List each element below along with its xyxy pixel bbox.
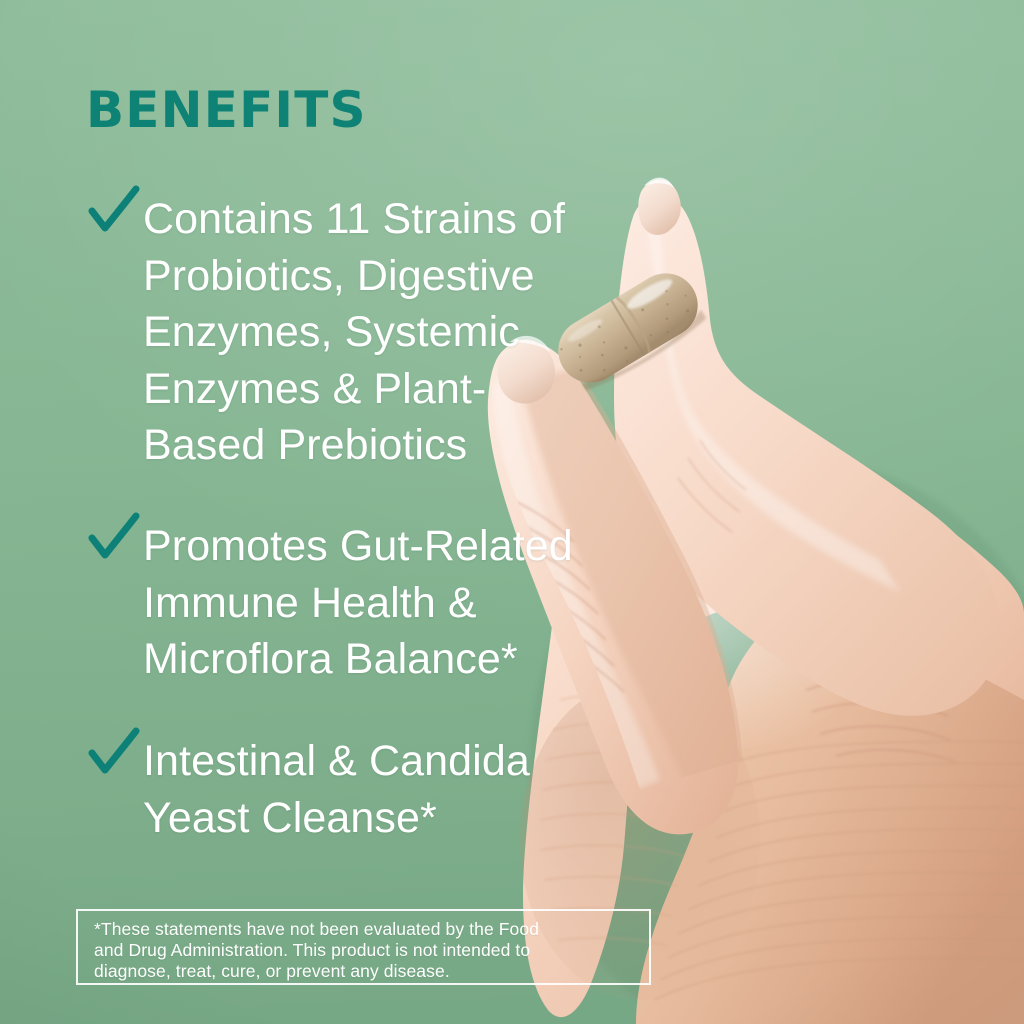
benefit-text: Intestinal & Candida Yeast Cleanse* [143, 733, 530, 846]
content-layer: BENEFITS Contains 11 Strains of Probioti… [0, 0, 1024, 1024]
promo-graphic: BENEFITS Contains 11 Strains of Probioti… [0, 0, 1024, 1024]
benefit-item: Promotes Gut-Related Immune Health & Mic… [86, 518, 573, 688]
benefit-item: Contains 11 Strains of Probiotics, Diges… [86, 191, 565, 474]
benefit-text: Promotes Gut-Related Immune Health & Mic… [143, 518, 573, 688]
benefit-text: Contains 11 Strains of Probiotics, Diges… [143, 191, 565, 474]
fda-disclaimer-text: *These statements have not been evaluate… [94, 919, 649, 982]
page-title: BENEFITS [86, 85, 367, 135]
check-icon [86, 185, 142, 241]
check-icon [86, 727, 142, 783]
check-icon [86, 512, 142, 568]
benefit-item: Intestinal & Candida Yeast Cleanse* [86, 733, 530, 846]
fda-disclaimer-box: *These statements have not been evaluate… [76, 909, 651, 985]
